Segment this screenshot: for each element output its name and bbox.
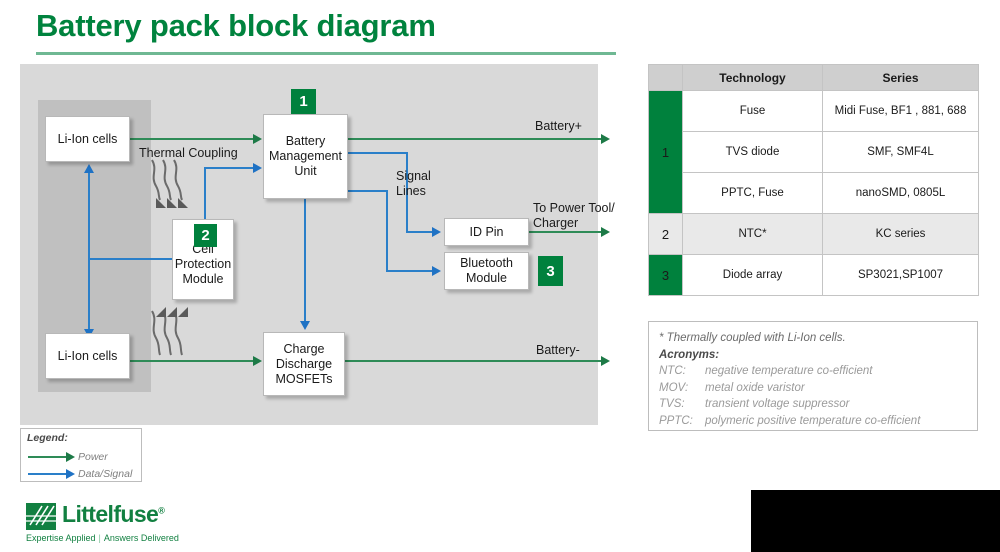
data-arrow-to-bluetooth: [432, 266, 441, 276]
mosfets-label-line1: Charge: [283, 342, 324, 356]
tagline-separator: |: [96, 533, 104, 543]
bmu-label-line2: Management: [269, 149, 342, 163]
block-li-ion-cells-bottom[interactable]: Li-Ion cells: [45, 333, 130, 379]
data-line-cpm-to-cells-bus: [88, 258, 174, 260]
block-label: Bluetooth Module: [460, 256, 513, 286]
table-cell-technology: Diode array: [683, 255, 823, 296]
bluetooth-label-line2: Module: [466, 271, 507, 285]
block-label: Battery Management Unit: [269, 134, 342, 179]
block-label: Li-Ion cells: [58, 349, 118, 364]
note-acronyms-title: Acronyms:: [659, 347, 967, 364]
label-to-power-tool-line2: Charger: [533, 216, 578, 230]
table-cell-technology: PPTC, Fuse: [683, 173, 823, 214]
block-label: Li-Ion cells: [58, 132, 118, 147]
legend-label-data-signal: Data/Signal: [78, 468, 132, 480]
data-line-cpm-vertical: [204, 167, 206, 222]
table-row[interactable]: PPTC, Fuse nanoSMD, 0805L: [649, 173, 979, 214]
mosfets-label-line3: MOSFETs: [276, 372, 333, 386]
table-body: 1 Fuse Midi Fuse, BF1 , 881, 688 TVS dio…: [649, 91, 979, 296]
data-line-bmu-to-mosfets: [304, 199, 306, 323]
thermal-coupling-arrows-upper: [148, 158, 198, 218]
acronym-key: TVS:: [659, 396, 705, 413]
label-signal-lines-line2: Lines: [396, 184, 426, 198]
littelfuse-mark-icon: [26, 503, 56, 530]
power-arrow-battery-plus: [601, 134, 610, 144]
label-to-power-tool-line1: To Power Tool/: [533, 201, 615, 215]
table-cell-series: SMF, SMF4L: [823, 132, 979, 173]
data-line-cpm-to-bmu: [204, 167, 255, 169]
acronym-value: metal oxide varistor: [705, 380, 805, 397]
table-cell-group-number: 1: [649, 91, 683, 214]
bmu-label-line1: Battery: [286, 134, 326, 148]
data-arrow-cells-bus-up: [84, 164, 94, 173]
tagline-left: Expertise Applied: [26, 533, 96, 543]
registered-mark: ®: [158, 505, 164, 515]
acronym-value: negative temperature co-efficient: [705, 363, 872, 380]
block-label: Charge Discharge MOSFETs: [276, 342, 333, 387]
acronym-key: MOV:: [659, 380, 705, 397]
technology-series-table: Technology Series 1 Fuse Midi Fuse, BF1 …: [648, 64, 979, 296]
table-row[interactable]: TVS diode SMF, SMF4L: [649, 132, 979, 173]
note-footnote: * Thermally coupled with Li-Ion cells.: [659, 330, 967, 347]
table-cell-group-number: 3: [649, 255, 683, 296]
bmu-label-line3: Unit: [294, 164, 316, 178]
acronym-row-ntc: NTC: negative temperature co-efficient: [659, 363, 967, 380]
data-line-cells-bus-vertical: [88, 172, 90, 332]
block-charge-discharge-mosfets[interactable]: Charge Discharge MOSFETs: [263, 332, 345, 396]
block-bluetooth-module[interactable]: Bluetooth Module: [444, 252, 529, 290]
title-underline-rule: [36, 52, 616, 55]
acronym-value: polymeric positive temperature co-effici…: [705, 413, 920, 430]
block-label: Cell Protection Module: [175, 242, 231, 287]
table-row[interactable]: 2 NTC* KC series: [649, 214, 979, 255]
acronym-value: transient voltage suppressor: [705, 396, 849, 413]
label-thermal-coupling: Thermal Coupling: [139, 146, 238, 161]
thermal-coupling-arrows-lower: [148, 305, 198, 365]
acronym-key: PPTC:: [659, 413, 705, 430]
table-cell-technology: TVS diode: [683, 132, 823, 173]
acronym-row-tvs: TVS: transient voltage suppressor: [659, 396, 967, 413]
block-battery-management-unit[interactable]: Battery Management Unit: [263, 114, 348, 199]
legend-data-arrow-swatch: [66, 469, 75, 479]
notes-acronyms-box: * Thermally coupled with Li-Ion cells. A…: [648, 321, 978, 431]
table-cell-technology: Fuse: [683, 91, 823, 132]
label-battery-plus: Battery+: [535, 119, 582, 134]
power-line-idpin-to-charger: [529, 231, 603, 233]
acronym-key: NTC:: [659, 363, 705, 380]
legend-power-arrow-swatch: [66, 452, 75, 462]
data-line-bmu-to-bt-v: [386, 190, 388, 271]
tagline-right: Answers Delivered: [104, 533, 179, 543]
data-line-bmu-to-bt-h1: [348, 190, 388, 192]
block-id-pin[interactable]: ID Pin: [444, 218, 529, 246]
legend-label-power: Power: [78, 451, 108, 463]
data-arrow-to-idpin: [432, 227, 441, 237]
block-label: ID Pin: [469, 225, 503, 240]
black-redaction-block: [751, 490, 1000, 552]
table-cell-series: nanoSMD, 0805L: [823, 173, 979, 214]
block-li-ion-cells-top[interactable]: Li-Ion cells: [45, 116, 130, 162]
cpm-label-line3: Module: [183, 272, 224, 286]
data-line-bmu-to-idpin-h1: [348, 152, 408, 154]
callout-badge-1[interactable]: 1: [291, 89, 316, 114]
label-battery-minus: Battery-: [536, 343, 580, 358]
table-header-number: [649, 65, 683, 91]
page-title: Battery pack block diagram: [36, 8, 436, 44]
table-header-series: Series: [823, 65, 979, 91]
table-header-technology: Technology: [683, 65, 823, 91]
power-line-cells-to-bmu: [130, 138, 255, 140]
wordmark-text: Littelfuse: [62, 501, 158, 527]
data-line-bmu-to-bt-h2: [386, 270, 436, 272]
label-to-power-tool-charger: To Power Tool/ Charger: [533, 201, 615, 231]
acronym-row-pptc: PPTC: polymeric positive temperature co-…: [659, 413, 967, 430]
cpm-label-line2: Protection: [175, 257, 231, 271]
power-line-mosfets-to-battery-minus: [345, 360, 603, 362]
power-arrow-battery-minus: [601, 356, 610, 366]
mosfets-label-line2: Discharge: [276, 357, 332, 371]
table-cell-series: SP3021,SP1007: [823, 255, 979, 296]
legend-data-line-swatch: [28, 473, 68, 475]
data-arrow-cpm-to-bmu: [253, 163, 262, 173]
label-signal-lines: Signal Lines: [396, 169, 431, 199]
table-cell-group-number: 2: [649, 214, 683, 255]
callout-badge-3[interactable]: 3: [538, 256, 563, 286]
table-row[interactable]: 1 Fuse Midi Fuse, BF1 , 881, 688: [649, 91, 979, 132]
acronym-row-mov: MOV: metal oxide varistor: [659, 380, 967, 397]
power-line-bmu-to-battery-plus: [348, 138, 603, 140]
legend-title: Legend:: [27, 432, 68, 444]
label-signal-lines-line1: Signal: [396, 169, 431, 183]
power-arrow-cells-to-mosfets: [253, 356, 262, 366]
littelfuse-tagline: Expertise Applied|Answers Delivered: [26, 533, 179, 543]
legend-power-line-swatch: [28, 456, 68, 458]
table-cell-technology: NTC*: [683, 214, 823, 255]
table-header-row: Technology Series: [649, 65, 979, 91]
data-arrow-bmu-to-mosfets: [300, 321, 310, 330]
table-cell-series: KC series: [823, 214, 979, 255]
bluetooth-label-line1: Bluetooth: [460, 256, 513, 270]
littelfuse-logo: Littelfuse® Expertise Applied|Answers De…: [22, 500, 222, 548]
power-arrow-cells-to-bmu: [253, 134, 262, 144]
table-row[interactable]: 3 Diode array SP3021,SP1007: [649, 255, 979, 296]
table-cell-series: Midi Fuse, BF1 , 881, 688: [823, 91, 979, 132]
callout-badge-2[interactable]: 2: [194, 224, 217, 247]
littelfuse-wordmark: Littelfuse®: [62, 501, 164, 528]
